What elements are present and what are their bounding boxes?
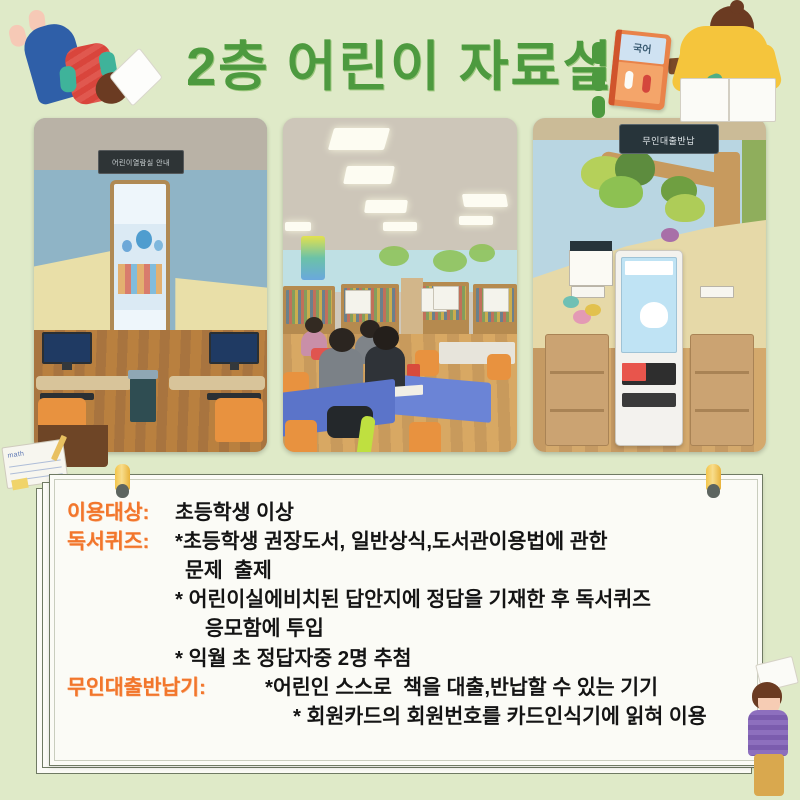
value-reading-quiz-4: 응모함에 투입 (205, 614, 747, 643)
value-self-checkout-1: *어린인 스스로 책을 대출,반납할 수 있는 기기 (265, 673, 747, 702)
kiosk-sign: 무인대출반납 (619, 124, 719, 154)
computer-area-photo[interactable]: 어린이열람실 안내 (34, 118, 267, 452)
child-holding-book-icon (738, 660, 794, 800)
reading-room-photo[interactable] (283, 118, 516, 452)
info-row-kiosk: 무인대출반납기: *어린인 스스로 책을 대출,반납할 수 있는 기기 (67, 673, 747, 702)
photo-row: 어린이열람실 안내 (0, 118, 800, 458)
kiosk-sign-text: 무인대출반납 (620, 134, 718, 147)
info-row-kiosk-cont: * 회원카드의 회원번호를 카드인식기에 읽혀 이용 (67, 702, 747, 731)
pushpin-icon-right (706, 464, 721, 498)
value-reading-quiz-2: 문제 출제 (185, 556, 747, 585)
kiosk-machine (615, 250, 683, 446)
info-row-quiz-draw: * 익월 초 정답자중 2명 추첨 (67, 644, 747, 673)
green-pill-decor-icon (592, 42, 605, 123)
info-row-quiz-submit-cont: 응모함에 투입 (67, 614, 747, 643)
self-checkout-kiosk-photo[interactable]: 무인대출반납 (533, 118, 766, 452)
poster-header: 2층 어린이 자료실 국어 (0, 0, 800, 118)
info-row-usage-target: 이용대상: 초등학생 이상 (67, 498, 747, 527)
value-usage-target: 초등학생 이상 (175, 498, 747, 527)
value-self-checkout-2: * 회원카드의 회원번호를 카드인식기에 읽혀 이용 (293, 702, 747, 731)
room-sign-text: 어린이열람실 안내 (99, 158, 183, 168)
label-self-checkout: 무인대출반납기: (67, 673, 265, 702)
korean-textbook-icon: 국어 (608, 29, 672, 110)
label-usage-target: 이용대상: (67, 498, 175, 527)
info-row-quiz: 독서퀴즈: *초등학생 권장도서, 일반상식,도서관이용법에 관한 (67, 527, 747, 556)
info-row-quiz-submit: * 어린이실에비치된 답안지에 정답을 기재한 후 독서퀴즈 (67, 585, 747, 614)
value-reading-quiz-5: * 익월 초 정답자중 2명 추첨 (175, 644, 747, 673)
info-card: 이용대상: 초등학생 이상 독서퀴즈: *초등학생 권장도서, 일반상식,도서관… (36, 474, 764, 774)
value-reading-quiz-3: * 어린이실에비치된 답안지에 정답을 기재한 후 독서퀴즈 (175, 585, 747, 614)
page-title: 2층 어린이 자료실 (0, 22, 800, 101)
pushpin-icon-left (115, 464, 130, 498)
room-sign: 어린이열람실 안내 (98, 150, 184, 174)
info-row-quiz-cont: 문제 출제 (67, 556, 747, 585)
notebook-label: math (7, 450, 25, 459)
poster-root: 2층 어린이 자료실 국어 (0, 0, 800, 800)
value-reading-quiz-1: *초등학생 권장도서, 일반상식,도서관이용법에 관한 (175, 527, 747, 556)
label-reading-quiz: 독서퀴즈: (67, 527, 175, 556)
info-content: 이용대상: 초등학생 이상 독서퀴즈: *초등학생 권장도서, 일반상식,도서관… (49, 480, 763, 766)
